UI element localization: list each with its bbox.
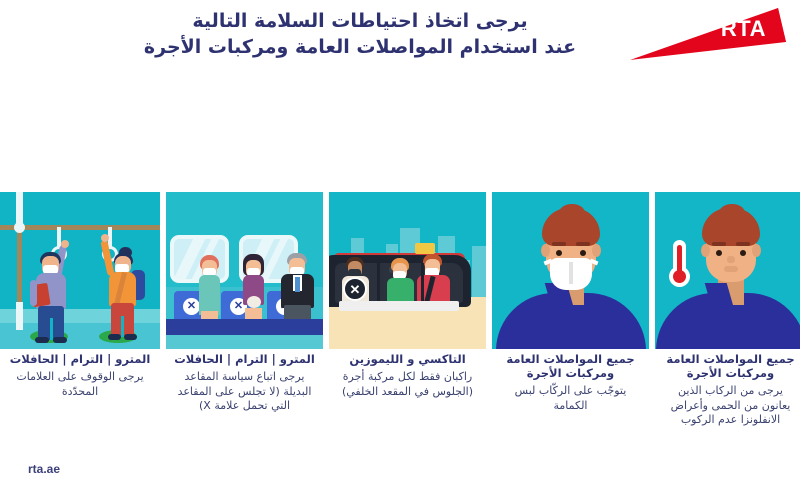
necktie	[295, 277, 300, 292]
caption-strip: المترو | الترام | الحافلات يرجى الوقوف ع…	[0, 352, 800, 462]
caption-taxi: التاكسي و الليموزين راكبان فقط لكل مركبة…	[329, 352, 486, 462]
eye-left	[556, 250, 562, 256]
eyebrow-right	[576, 242, 590, 246]
raised-arm	[100, 240, 114, 277]
header: يرجى اتخاذ احتياطات السلامة التالية عند …	[0, 0, 800, 96]
caption-no-fever-travel: جميع المواصلات العامة ومركبات الأجرة يرج…	[655, 352, 800, 462]
bench-base	[166, 319, 323, 335]
shoe-left	[108, 334, 121, 340]
page-title: يرجى اتخاذ احتياطات السلامة التالية عند …	[120, 8, 600, 60]
floor	[166, 335, 323, 349]
eye-right	[580, 250, 586, 256]
thermometer-mercury	[677, 245, 682, 273]
rta-logo-text: RTA	[721, 16, 766, 42]
eyebrow-left	[712, 242, 726, 246]
page-title-line-1: يرجى اتخاذ احتياطات السلامة التالية	[120, 8, 600, 34]
eyebrow-right	[736, 242, 750, 246]
panel-illustration-fever-man	[655, 192, 800, 349]
rta-logo: RTA	[628, 4, 788, 66]
shoe-right	[124, 334, 137, 340]
caption-alternate-seating: المترو | الترام | الحافلات يرجى اتباع سي…	[166, 352, 323, 462]
panel-illustration-metro-standing	[0, 192, 160, 349]
caption-wear-mask: جميع المواصلات العامة ومركبات الأجرة يتو…	[492, 352, 649, 462]
pole-cap-bottom	[16, 302, 23, 330]
panel-illustration-alternate-seating: ✕ ✕ ✕	[166, 192, 323, 349]
vertical-pole	[17, 192, 22, 327]
nose	[727, 256, 735, 263]
eyebrow-left	[552, 242, 566, 246]
caption-body: يتوجّب على الركّاب لبس الكمامة	[500, 384, 641, 413]
caption-body: يرجى الوقوف على العلامات المحدّدة	[8, 370, 152, 399]
ear-left	[701, 244, 710, 257]
hair-tuft	[719, 204, 745, 222]
caption-body: يرجى من الركاب الذين يعانون من الحمى وأع…	[663, 384, 798, 428]
caption-body: يرجى اتباع سياسة المقاعد البديلة (لا تجل…	[174, 370, 315, 414]
hair-tuft	[559, 204, 585, 222]
caption-title: جميع المواصلات العامة ومركبات الأجرة	[500, 352, 641, 380]
rear-passenger-1	[385, 261, 417, 303]
standing-passenger-woman	[98, 244, 148, 344]
panel-illustration-masked-man	[492, 192, 649, 349]
pole-cap-top	[16, 192, 23, 224]
holding-arm	[30, 280, 37, 306]
shoe-right	[53, 337, 67, 343]
handbag	[247, 296, 261, 308]
thermometer-icon	[669, 240, 691, 290]
caption-title: المترو | الترام | الحافلات	[174, 352, 315, 366]
caption-metro-standing: المترو | الترام | الحافلات يرجى الوقوف ع…	[0, 352, 160, 462]
shoe-left	[35, 337, 49, 343]
caption-body: راكبان فقط لكل مركبة أجرة (الجلوس في الم…	[337, 370, 478, 399]
portrait-masked	[492, 192, 649, 349]
car-hood-strip	[339, 301, 459, 311]
window-divider	[377, 263, 380, 303]
window-divider	[421, 263, 424, 303]
page-title-line-2: عند استخدام المواصلات العامة ومركبات الأ…	[120, 34, 600, 60]
front-seat-x-mark-icon: ✕	[343, 277, 367, 301]
caption-title: جميع المواصلات العامة ومركبات الأجرة	[663, 352, 798, 380]
building	[472, 246, 486, 300]
panel-illustration-taxi: ✕	[329, 192, 486, 349]
taxi-roof-sign	[415, 243, 435, 254]
caption-title: المترو | الترام | الحافلات	[8, 352, 152, 366]
ear-left	[541, 244, 550, 257]
mask-center-seam	[569, 262, 573, 284]
standing-passenger-man	[28, 248, 76, 344]
caption-title: التاكسي و الليموزين	[337, 352, 478, 366]
ear-right	[592, 244, 601, 257]
leg-gap	[121, 316, 124, 337]
leg-gap	[50, 318, 53, 340]
ear-right	[752, 244, 761, 257]
eye-right	[740, 250, 746, 256]
hand	[61, 240, 69, 248]
illustration-strip: ✕ ✕ ✕	[0, 192, 800, 349]
pole-joint	[14, 222, 25, 233]
hand	[101, 234, 109, 242]
eye-left	[716, 250, 722, 256]
infographic-page: يرجى اتخاذ احتياطات السلامة التالية عند …	[0, 0, 800, 498]
footer-website[interactable]: rta.ae	[28, 462, 60, 476]
mouth	[724, 266, 738, 272]
thermometer-mercury-bulb	[673, 270, 686, 283]
